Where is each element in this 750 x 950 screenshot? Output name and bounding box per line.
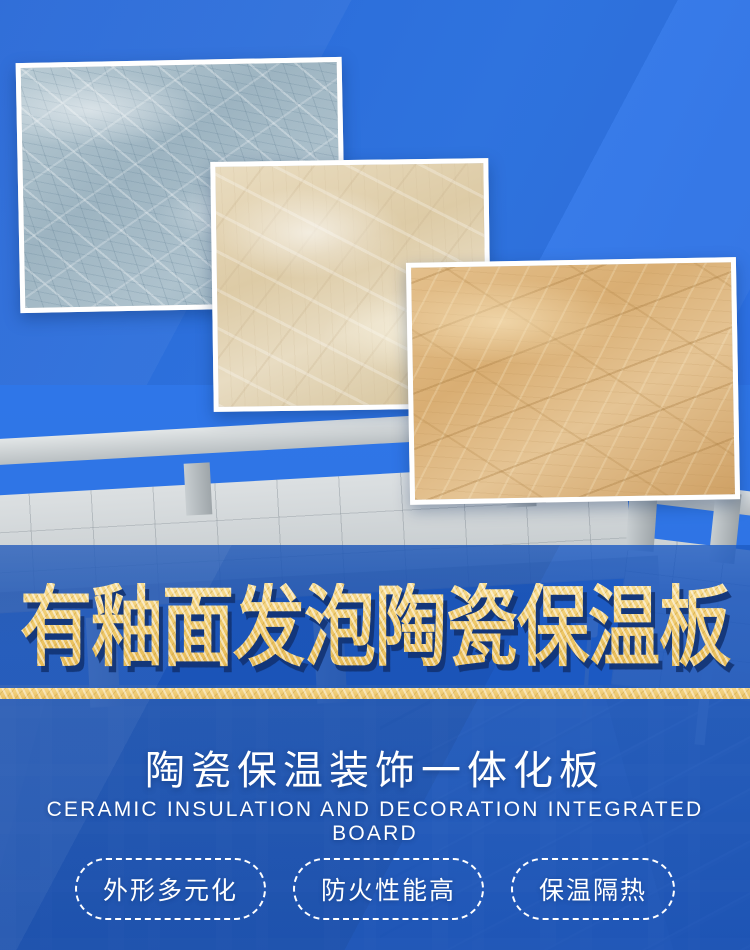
feature-pill-group: 外形多元化 防火性能高 保温隔热 (0, 858, 750, 920)
tan-gold-marble-texture (411, 262, 735, 500)
feature-pill-thermal-insulation[interactable]: 保温隔热 (511, 858, 675, 920)
headline-title: 有釉面发泡陶瓷保温板 (0, 583, 750, 671)
tile-sample-3 (406, 257, 740, 505)
feature-pill-shape-variety[interactable]: 外形多元化 (75, 858, 266, 920)
building-column-1 (184, 462, 213, 515)
feature-pill-fire-resistance[interactable]: 防火性能高 (293, 858, 484, 920)
gold-divider-bar (0, 688, 750, 699)
subtitle-chinese: 陶瓷保温装饰一体化板 (0, 738, 750, 796)
subtitle-english: CERAMIC INSULATION AND DECORATION INTEGR… (0, 798, 750, 846)
product-promo-banner: 有釉面发泡陶瓷保温板 陶瓷保温装饰一体化板 CERAMIC INSULATION… (0, 0, 750, 950)
